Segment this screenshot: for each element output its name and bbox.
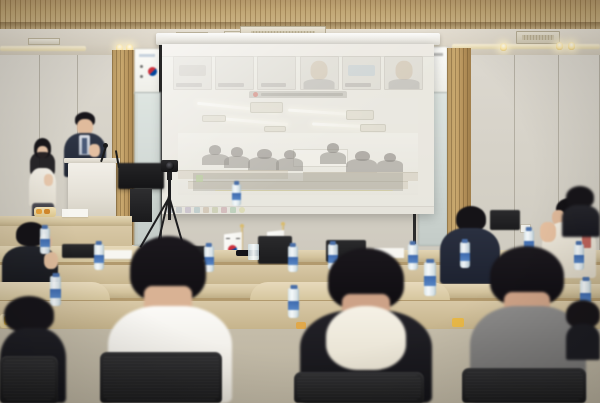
water-bottle (288, 246, 298, 272)
attendee-hand-clapping (44, 252, 58, 269)
attendee-top (562, 205, 600, 237)
attendee-hands-clapping (540, 222, 556, 242)
drinking-glass (248, 244, 259, 260)
hoodie-hood (326, 306, 406, 370)
ceiling-spotlight (500, 43, 507, 51)
wall-banner-left (134, 48, 162, 94)
ceiling-spotlight (556, 42, 563, 50)
water-bottle (460, 242, 470, 268)
attendee-jacket (29, 168, 56, 206)
microphone-head-icon (103, 143, 108, 148)
chair-backrest (462, 368, 586, 403)
participant-tile (173, 56, 212, 90)
attendee-hands-clapping (44, 174, 53, 186)
water-bottle (232, 184, 241, 206)
banner-dot (140, 75, 143, 78)
video-camera (161, 160, 178, 172)
presenter-tie (82, 138, 87, 154)
shared-screen-remote-classroom (178, 98, 417, 195)
participant-tile-active (300, 56, 339, 90)
projection-screen (162, 44, 434, 214)
recording-label (261, 93, 343, 97)
snack-item (452, 318, 464, 327)
snack-item (44, 209, 50, 214)
banner-title-bar (139, 54, 155, 57)
monitor-stand (130, 189, 152, 222)
ac-vent-right (516, 31, 560, 44)
participant-tile (257, 56, 296, 90)
taegukgi-emblem-icon (148, 67, 157, 76)
projected-taskbar (162, 206, 434, 215)
cove-light-left (0, 46, 86, 51)
ceiling-spotlight (568, 42, 575, 50)
cove-light-right (452, 44, 600, 49)
attendee-top (566, 324, 600, 360)
chair-backrest (0, 356, 58, 403)
attendee-back-right (562, 186, 600, 236)
ceiling-slot-3 (28, 38, 60, 45)
chair-backrest (294, 372, 424, 403)
participant-tile-strip (173, 56, 423, 90)
banner-dot (140, 65, 143, 68)
laptop-open (258, 236, 292, 264)
attendee-far-right-seated (566, 300, 600, 360)
caption-source-icon (196, 175, 203, 182)
snack-item (36, 209, 42, 214)
attendee-hair (4, 296, 54, 332)
tripod-head (167, 172, 172, 180)
water-bottle (94, 244, 104, 270)
tablet (490, 210, 520, 230)
record-dot-icon (253, 92, 258, 97)
video-conference-app (162, 44, 434, 214)
presenter-hand (89, 144, 100, 157)
paper-document (62, 209, 88, 217)
chair-backrest (100, 352, 222, 403)
projected-image (162, 44, 434, 214)
camera-lens-icon (166, 162, 174, 170)
participant-tile (215, 56, 254, 90)
participant-tile (342, 56, 381, 90)
korean-subtitle-overlay (193, 173, 404, 190)
conference-hall-photo (0, 0, 600, 403)
trigram-mark (236, 238, 240, 239)
water-bottle (288, 288, 299, 318)
laptop (62, 244, 98, 258)
participant-tile (384, 56, 423, 90)
recording-indicator-badge (249, 91, 347, 99)
water-bottle (40, 228, 50, 254)
